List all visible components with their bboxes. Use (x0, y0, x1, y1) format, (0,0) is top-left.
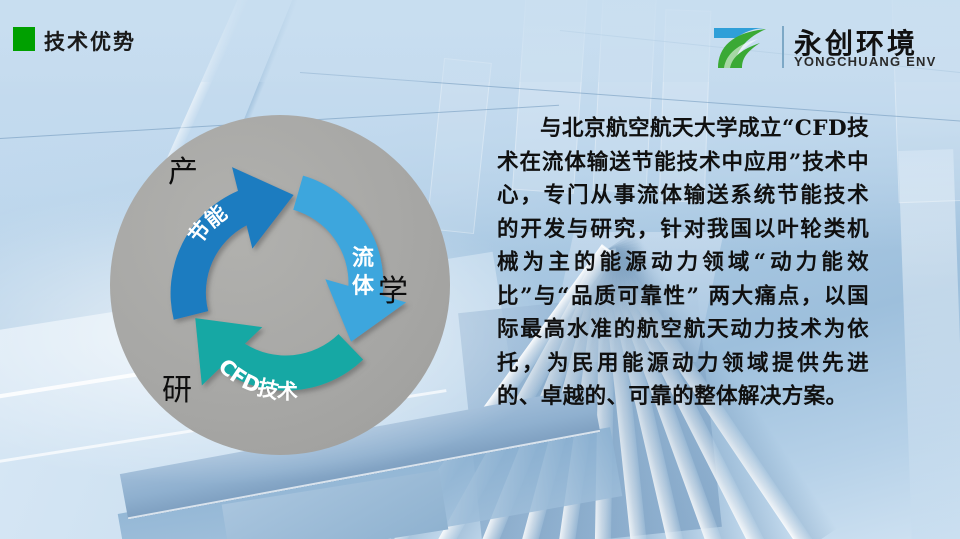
logo-english-name: YONGCHUANG ENV (794, 54, 936, 69)
company-logo: 永创环境 YONGCHUANG ENV (710, 24, 948, 72)
header-bullet-square-icon (13, 27, 35, 51)
page-title: 技术优势 (44, 26, 136, 56)
leaf-logo-icon (710, 24, 772, 70)
body-paragraph: 与北京航空航天大学成立“CFD技术在流体输送节能技术中应用”技术中心，专门从事流… (497, 112, 869, 414)
slide-canvas: 技术优势 永创环境 YONGCHUANG ENV (0, 0, 960, 539)
diagram-outer-label-xue: 学 (378, 266, 408, 310)
cycle-diagram: 节能 CFD技术 流体 产 学 研 (110, 115, 450, 455)
logo-divider (782, 26, 784, 68)
diagram-outer-label-yan: 研 (162, 365, 192, 409)
diagram-outer-label-chan: 产 (168, 147, 198, 191)
